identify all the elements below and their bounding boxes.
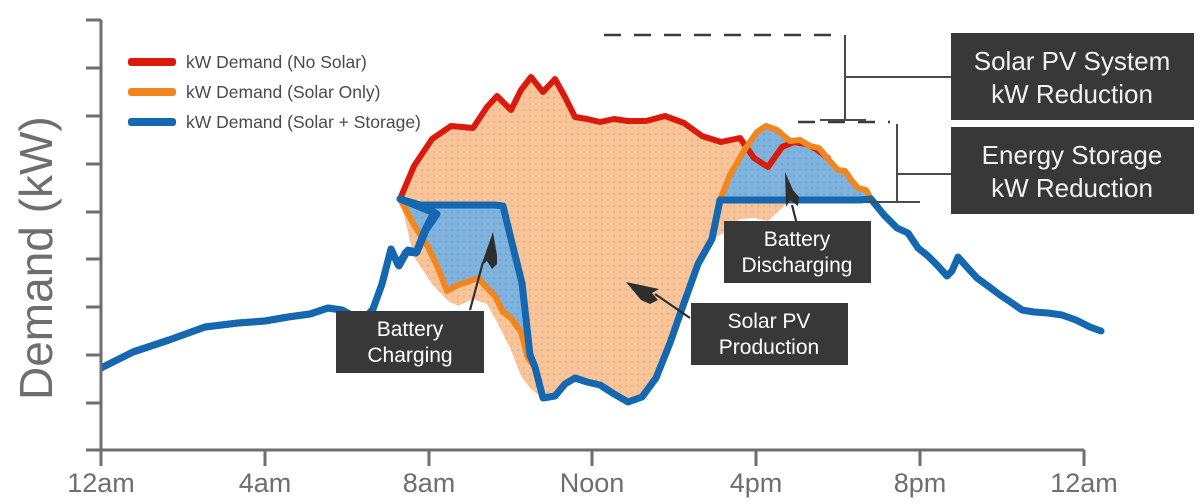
legend-swatch-solar-storage — [128, 118, 176, 126]
battery-discharging-line2: Discharging — [742, 254, 853, 277]
legend-label-no-solar: kW Demand (No Solar) — [186, 52, 367, 72]
battery-charging-line1: Battery — [377, 318, 444, 341]
chart-root: 12am 4am 8am Noon 4pm 8pm 12am Demand (k… — [0, 0, 1200, 504]
legend-label-solar-storage: kW Demand (Solar + Storage) — [186, 112, 421, 132]
x-ticks — [101, 450, 1084, 466]
solar-pv-production-line2: Production — [719, 336, 819, 359]
solar-pv-production-line1: Solar PV — [728, 310, 811, 333]
storage-reduction-line1: Energy Storage — [982, 140, 1163, 170]
legend-item-solar-storage: kW Demand (Solar + Storage) — [128, 112, 421, 132]
solar-reduction-line1: Solar PV System — [974, 46, 1171, 76]
y-axis-label: Demand (kW) — [10, 116, 62, 400]
legend-item-no-solar: kW Demand (No Solar) — [128, 52, 367, 72]
x-tick-label-3: Noon — [560, 468, 625, 498]
x-tick-label-2: 8am — [403, 468, 456, 498]
x-tick-label-0: 12am — [67, 468, 135, 498]
storage-reduction-line2: kW Reduction — [991, 173, 1153, 203]
legend-label-solar-only: kW Demand (Solar Only) — [186, 82, 381, 102]
x-tick-label-1: 4am — [239, 468, 292, 498]
side-box-storage-reduction: Energy Storage kW Reduction — [951, 127, 1194, 214]
x-tick-label-5: 8pm — [894, 468, 947, 498]
x-tick-label-6: 12am — [1050, 468, 1118, 498]
battery-charging-line2: Charging — [367, 344, 452, 367]
bracket-storage-reduction — [866, 124, 951, 202]
solar-reduction-line2: kW Reduction — [991, 79, 1153, 109]
legend: kW Demand (No Solar) kW Demand (Solar On… — [128, 52, 421, 132]
legend-swatch-no-solar — [128, 58, 176, 66]
x-tick-label-4: 4pm — [730, 468, 783, 498]
y-ticks — [86, 20, 101, 450]
legend-item-solar-only: kW Demand (Solar Only) — [128, 82, 381, 102]
bracket-solar-reduction — [820, 35, 951, 120]
battery-discharging-line1: Battery — [764, 228, 831, 251]
legend-swatch-solar-only — [128, 88, 176, 96]
side-box-solar-reduction: Solar PV System kW Reduction — [951, 33, 1194, 120]
demand-chart: 12am 4am 8am Noon 4pm 8pm 12am Demand (k… — [0, 0, 1200, 504]
